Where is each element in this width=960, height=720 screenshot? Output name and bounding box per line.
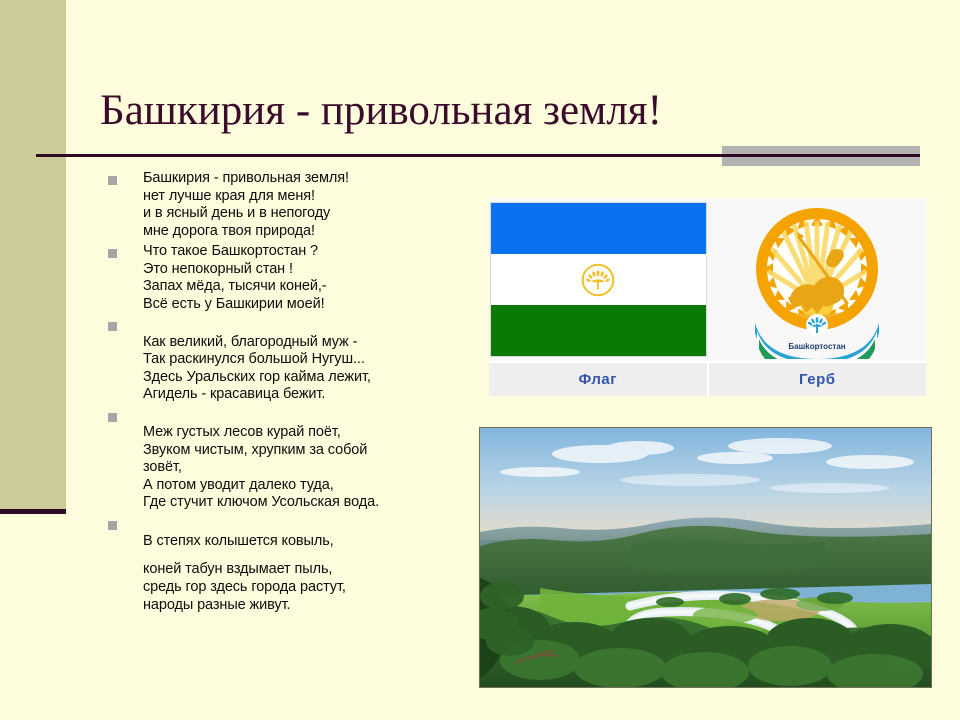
coat-of-arms-cell: Башkортостан xyxy=(708,198,927,361)
flag-stripe-white xyxy=(491,254,706,305)
poem-line: Как великий, благородный муж - xyxy=(143,334,371,352)
poem-line: нет лучше края для меня! xyxy=(143,188,349,206)
landscape-photo-graphic xyxy=(480,428,931,687)
bullet-square-icon xyxy=(108,249,117,258)
poem-line: народы разные живут. xyxy=(143,596,346,614)
left-band-rule xyxy=(0,509,66,514)
poem-list: Башкирия - привольная земля! нет лучше к… xyxy=(108,170,480,617)
state-symbols-table: Башkортостан Флаг Герб xyxy=(489,198,926,396)
symbols-image-row: Башkортостан xyxy=(489,198,926,361)
bullet-square-icon xyxy=(108,521,117,530)
stanza-lines: В степях колышется ковыль, коней табун в… xyxy=(143,515,346,615)
poem-line: Всё есть у Башкирии моей! xyxy=(143,296,326,314)
left-decorative-band xyxy=(0,0,66,509)
poem-line-blank xyxy=(143,407,379,425)
poem-line: мне дорога твоя природа! xyxy=(143,223,349,241)
poem-line: Так раскинулся большой Нугуш... xyxy=(143,351,371,369)
landscape-photo xyxy=(479,427,932,688)
poem-line: В степях колышется ковыль, xyxy=(143,532,346,550)
poem-line: Что такое Башкортостан ? xyxy=(143,243,326,261)
stanza-lines: Меж густых лесов курай поёт, Звуком чист… xyxy=(143,407,379,512)
flag-stripe-blue xyxy=(491,203,706,254)
poem-line: Агидель - красавица бежит. xyxy=(143,386,371,404)
slide-canvas: Башкирия - привольная земля! Башкирия - … xyxy=(0,0,960,720)
poem-line: Башкирия - привольная земля! xyxy=(143,170,349,188)
list-item: Башкирия - привольная земля! нет лучше к… xyxy=(108,170,480,240)
poem-line: Это непокорный стан ! xyxy=(143,261,326,279)
poem-line: Здесь Уральских гор кайма лежит, xyxy=(143,369,371,387)
coat-of-arms-ribbon-text: Башkортостан xyxy=(788,342,845,351)
poem-line: Где стучит ключом Усольская вода. xyxy=(143,494,379,512)
flag-cell xyxy=(489,198,708,361)
list-item: Как великий, благородный муж - Так раски… xyxy=(108,316,480,404)
poem-line: А потом уводит далеко туда, xyxy=(143,477,379,495)
title-divider-rule xyxy=(36,154,920,157)
flag-label: Флаг xyxy=(489,363,707,396)
flag-stripe-green xyxy=(491,305,706,356)
poem-line: Меж густых лесов курай поёт, xyxy=(143,424,379,442)
stanza-lines: Что такое Башкортостан ? Это непокорный … xyxy=(143,243,326,313)
stanza-lines: Башкирия - привольная земля! нет лучше к… xyxy=(143,170,349,240)
poem-line: коней табун вздымает пыль, xyxy=(143,560,346,578)
list-item: Меж густых лесов курай поёт, Звуком чист… xyxy=(108,407,480,512)
poem-line-blank xyxy=(143,316,371,334)
poem-line: зовёт, xyxy=(143,459,379,477)
coat-of-arms-label: Герб xyxy=(707,363,927,396)
stanza-lines: Как великий, благородный муж - Так раски… xyxy=(143,316,371,404)
bullet-square-icon xyxy=(108,413,117,422)
list-item: Что такое Башкортостан ? Это непокорный … xyxy=(108,243,480,313)
poem-line-blank xyxy=(143,515,346,533)
list-item: В степях колышется ковыль, коней табун в… xyxy=(108,515,480,615)
poem-line: Запах мёда, тысячи коней,- xyxy=(143,278,326,296)
bullet-square-icon xyxy=(108,176,117,185)
poem-line: средь гор здесь города растут, xyxy=(143,578,346,596)
kurai-flower-emblem-icon xyxy=(580,262,616,298)
page-title: Башкирия - привольная земля! xyxy=(100,86,900,136)
bashkortostan-coat-of-arms-icon: Башkортостан xyxy=(742,201,892,359)
symbols-label-row: Флаг Герб xyxy=(489,361,926,396)
bashkortostan-flag-icon xyxy=(490,202,707,357)
bullet-square-icon xyxy=(108,322,117,331)
poem-line: и в ясный день и в непогоду xyxy=(143,205,349,223)
poem-line: Звуком чистым, хрупким за собой xyxy=(143,442,379,460)
